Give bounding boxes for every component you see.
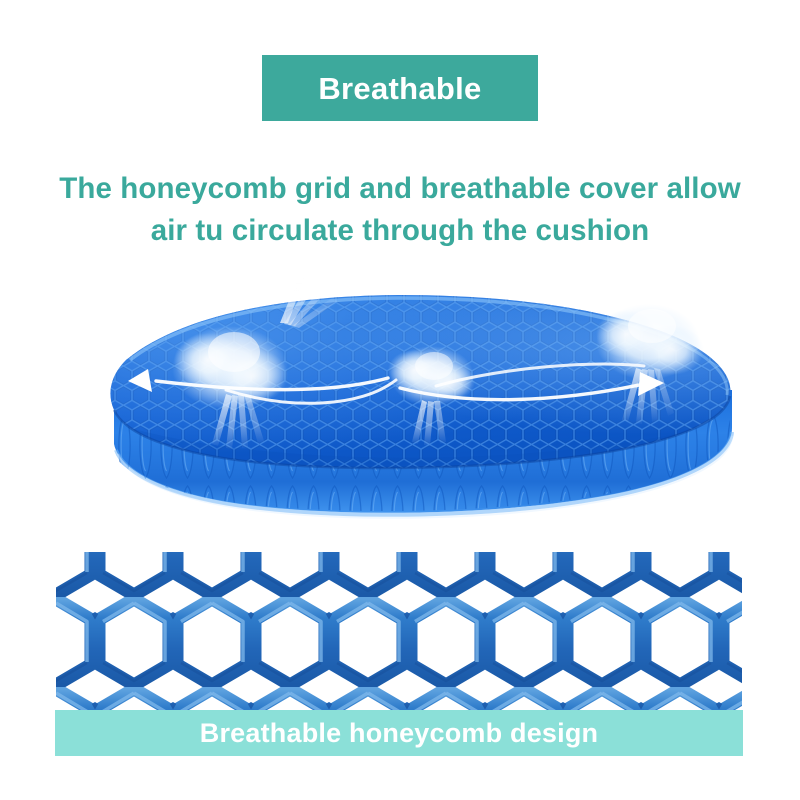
cushion-illustration bbox=[30, 268, 770, 553]
air-puff-right bbox=[596, 304, 704, 380]
honeycomb-mesh-image bbox=[56, 552, 742, 717]
honeycomb-caption-bar: Breathable honeycomb design bbox=[55, 710, 743, 756]
honeycomb-lattice-illustration bbox=[56, 552, 742, 717]
air-puff-left bbox=[172, 326, 288, 410]
caption-text: Breathable honeycomb design bbox=[200, 720, 598, 747]
subtitle-line-2: air tu circulate through the cushion bbox=[50, 210, 750, 252]
subtitle-block: The honeycomb grid and breathable cover … bbox=[50, 168, 750, 252]
breathable-title-banner: Breathable bbox=[262, 55, 538, 121]
cushion-product-image bbox=[30, 268, 770, 553]
subtitle-line-1: The honeycomb grid and breathable cover … bbox=[50, 168, 750, 210]
banner-title-text: Breathable bbox=[318, 73, 481, 104]
